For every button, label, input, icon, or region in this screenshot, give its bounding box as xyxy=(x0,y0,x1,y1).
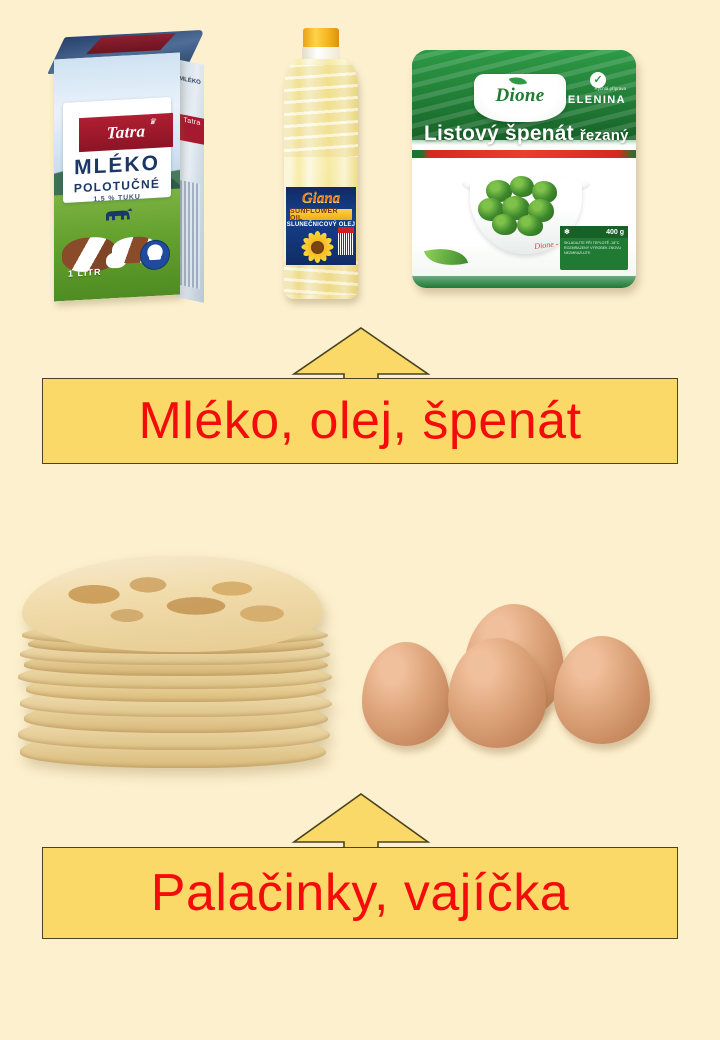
pancake-stack-body xyxy=(16,556,340,774)
spinach-clump xyxy=(510,176,534,197)
crown-icon: ♛ xyxy=(149,117,156,126)
bottle-cap xyxy=(303,28,339,48)
oil-product-en-band: SUNFLOWER OIL xyxy=(290,209,352,220)
spinach-bag-body: ✓ Rychlá příprava ZELENINA Dione Listový… xyxy=(412,50,636,288)
spinach-product-main: Listový špenát xyxy=(424,122,574,145)
milk-side-product: MLÉKO xyxy=(176,75,204,86)
label-banner-dish-text: Palačinky, vajíčka xyxy=(151,867,569,919)
spinach-brand-name: Dione xyxy=(474,85,566,107)
up-arrow-icon-ingredients xyxy=(292,326,430,382)
milk-brand-band: Tatra ♛ xyxy=(79,113,173,152)
up-arrow-icon-dish xyxy=(292,792,430,850)
slide-canvas: MLÉKO Tatra Tatra ♛ MLÉKO POLOTUČNÉ 1,5 … xyxy=(0,0,720,1040)
label-banner-dish: Palačinky, vajíčka xyxy=(42,847,678,939)
bottle-body: Giana SUNFLOWER OIL SLUNEČNICOVÝ OLEJ xyxy=(284,59,358,299)
spinach-product-title: Listový špenát řezaný xyxy=(424,122,630,146)
frozen-spinach-bag: ✓ Rychlá příprava ZELENINA Dione Listový… xyxy=(412,50,636,288)
milk-carton-side-panel: MLÉKO Tatra xyxy=(176,59,204,302)
spinach-leaf-decoration xyxy=(424,241,468,272)
milk-label: Tatra ♛ MLÉKO POLOTUČNÉ 1,5 % TUKU xyxy=(63,97,171,203)
spinach-category: ZELENINA xyxy=(560,94,626,106)
milk-volume: 1 LITR xyxy=(68,267,102,279)
spinach-info-header: ❄ 400 g xyxy=(560,226,628,238)
spinach-brand-logo: Dione xyxy=(474,74,566,122)
spinach-storage-info: ❄ 400 g SKLADUJTE PŘI TEPLOTĚ -18°C ROZM… xyxy=(560,226,628,270)
spinach-clump xyxy=(492,214,517,235)
spinach-info-text: SKLADUJTE PŘI TEPLOTĚ -18°C ROZMRAZENÝ V… xyxy=(564,241,624,256)
oil-barcode xyxy=(338,233,354,255)
snowflake-icon: ❄ xyxy=(564,228,570,236)
bottle-ribs-lower xyxy=(284,261,358,295)
spinach-product-photo: Dione - Příroda v pohodě ❄ 400 g SKLADUJ… xyxy=(412,158,636,276)
oil-brand-name: Giana xyxy=(286,190,356,207)
egg xyxy=(362,642,450,746)
label-banner-ingredients-text: Mléko, olej, špenát xyxy=(138,395,581,447)
spinach-weight: 400 g xyxy=(606,229,624,236)
egg xyxy=(554,636,650,744)
label-banner-ingredients: Mléko, olej, špenát xyxy=(42,378,678,464)
spinach-product-suffix: řezaný xyxy=(580,127,629,144)
spinach-red-stripe xyxy=(412,150,636,158)
milk-carton-front: Tatra ♛ MLÉKO POLOTUČNÉ 1,5 % TUKU 1 LIT… xyxy=(54,52,180,301)
oil-label: Giana SUNFLOWER OIL SLUNEČNICOVÝ OLEJ xyxy=(286,187,356,265)
sunflower-oil-bottle: Giana SUNFLOWER OIL SLUNEČNICOVÝ OLEJ xyxy=(276,28,366,300)
oil-product-en: SUNFLOWER OIL xyxy=(290,208,352,222)
spinach-clump xyxy=(517,215,543,236)
bottle-ribs-upper xyxy=(284,65,358,157)
pancake-stack xyxy=(16,556,340,774)
milk-side-barcode xyxy=(180,180,200,289)
milk-carton: MLÉKO Tatra Tatra ♛ MLÉKO POLOTUČNÉ 1,5 … xyxy=(48,26,208,302)
milk-brand-name: Tatra xyxy=(107,121,146,143)
quality-check-sub: Rychlá příprava xyxy=(594,86,626,91)
eggs-cluster xyxy=(356,596,686,748)
milk-carton-fold xyxy=(86,33,176,54)
cow-silhouette-icon xyxy=(103,207,133,225)
sunflower-icon xyxy=(300,231,334,263)
pancake-top-surface xyxy=(22,556,322,652)
